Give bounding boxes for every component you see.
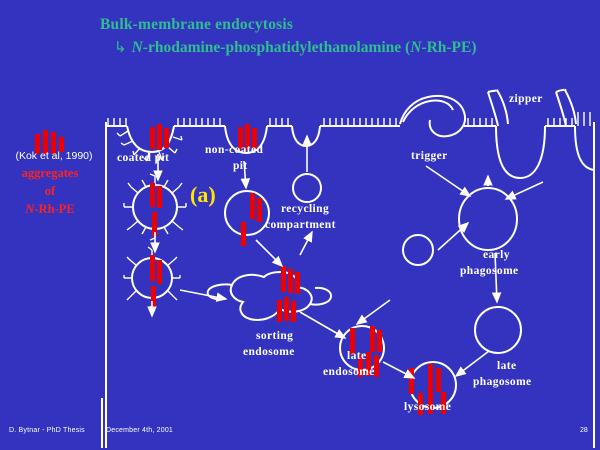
label-zipper: zipper [509,93,543,107]
footer-date: December 4th, 2001 [106,427,173,434]
recycling-compartment-vesicle [293,174,321,202]
arrow-to-sorting-endosome [180,290,226,299]
label-early-phagosome-line2: phagosome [460,265,519,279]
sorting-endosome-body [208,272,331,320]
arrow-phagosome-area-to-late-endosome [357,300,390,324]
label-late-phagosome-line2: phagosome [473,376,532,390]
trigger-pseudopod-inner [403,100,453,122]
zipper-cup-right [575,126,594,170]
membrane-tick-marks [108,112,590,126]
zipper-arm-left-inner [497,90,508,124]
label-coated-pit: coated pit [117,152,169,166]
label-late-endosome-line2: endosome [323,366,375,380]
footer-page-number: 28 [580,427,588,434]
label-sorting-endosome-line1: sorting [256,330,293,344]
zipper-arm-left-outer [488,92,498,126]
late-phagosome-vesicle [475,307,521,353]
label-non-coated-pit-line1: non-coated [205,144,263,158]
arrow-noncoated-vesicle-to-sorting [256,240,282,266]
zipper-arm-right-tip [556,90,565,92]
arrow-sorting-to-late-endosome [300,312,345,338]
label-late-phagosome-line1: late [497,360,516,374]
label-recycling-compartment-line1: recycling [281,203,329,217]
recycling-pit-invagination [292,126,320,146]
label-trigger: trigger [411,150,448,164]
arrow-zipper-right-to-early-phagosome [506,182,543,199]
arrow-sorting-to-recycling [300,232,312,255]
label-sorting-endosome-line2: endosome [243,346,295,360]
label-non-coated-pit-line2: pit [233,160,248,174]
footer-author: D. Bytnar - PhD Thesis [9,427,85,434]
zipper-arm-right-outer [556,92,566,126]
label-late-endosome-line1: late [347,350,366,364]
footer-divider [101,398,103,448]
trigger-pseudopod-outer [400,96,465,136]
label-early-phagosome-line1: early [483,249,510,263]
arrow-trigger-to-early-phagosome [426,166,470,196]
panel-letter-a: (a) [190,182,216,208]
small-vesicle-to-phagosome [403,235,433,265]
zipper-arm-left-tip [488,90,497,92]
slide-canvas: Bulk-membrane endocytosis ↳ N-rhodamine-… [0,0,600,450]
non-coated-vesicle [225,191,269,235]
arrow-late-phagosome-to-lysosome [456,351,489,376]
zipper-cup-membrane [496,126,545,178]
label-lysosome: lysosome [404,401,451,415]
label-recycling-compartment-line2: compartment [265,219,336,233]
